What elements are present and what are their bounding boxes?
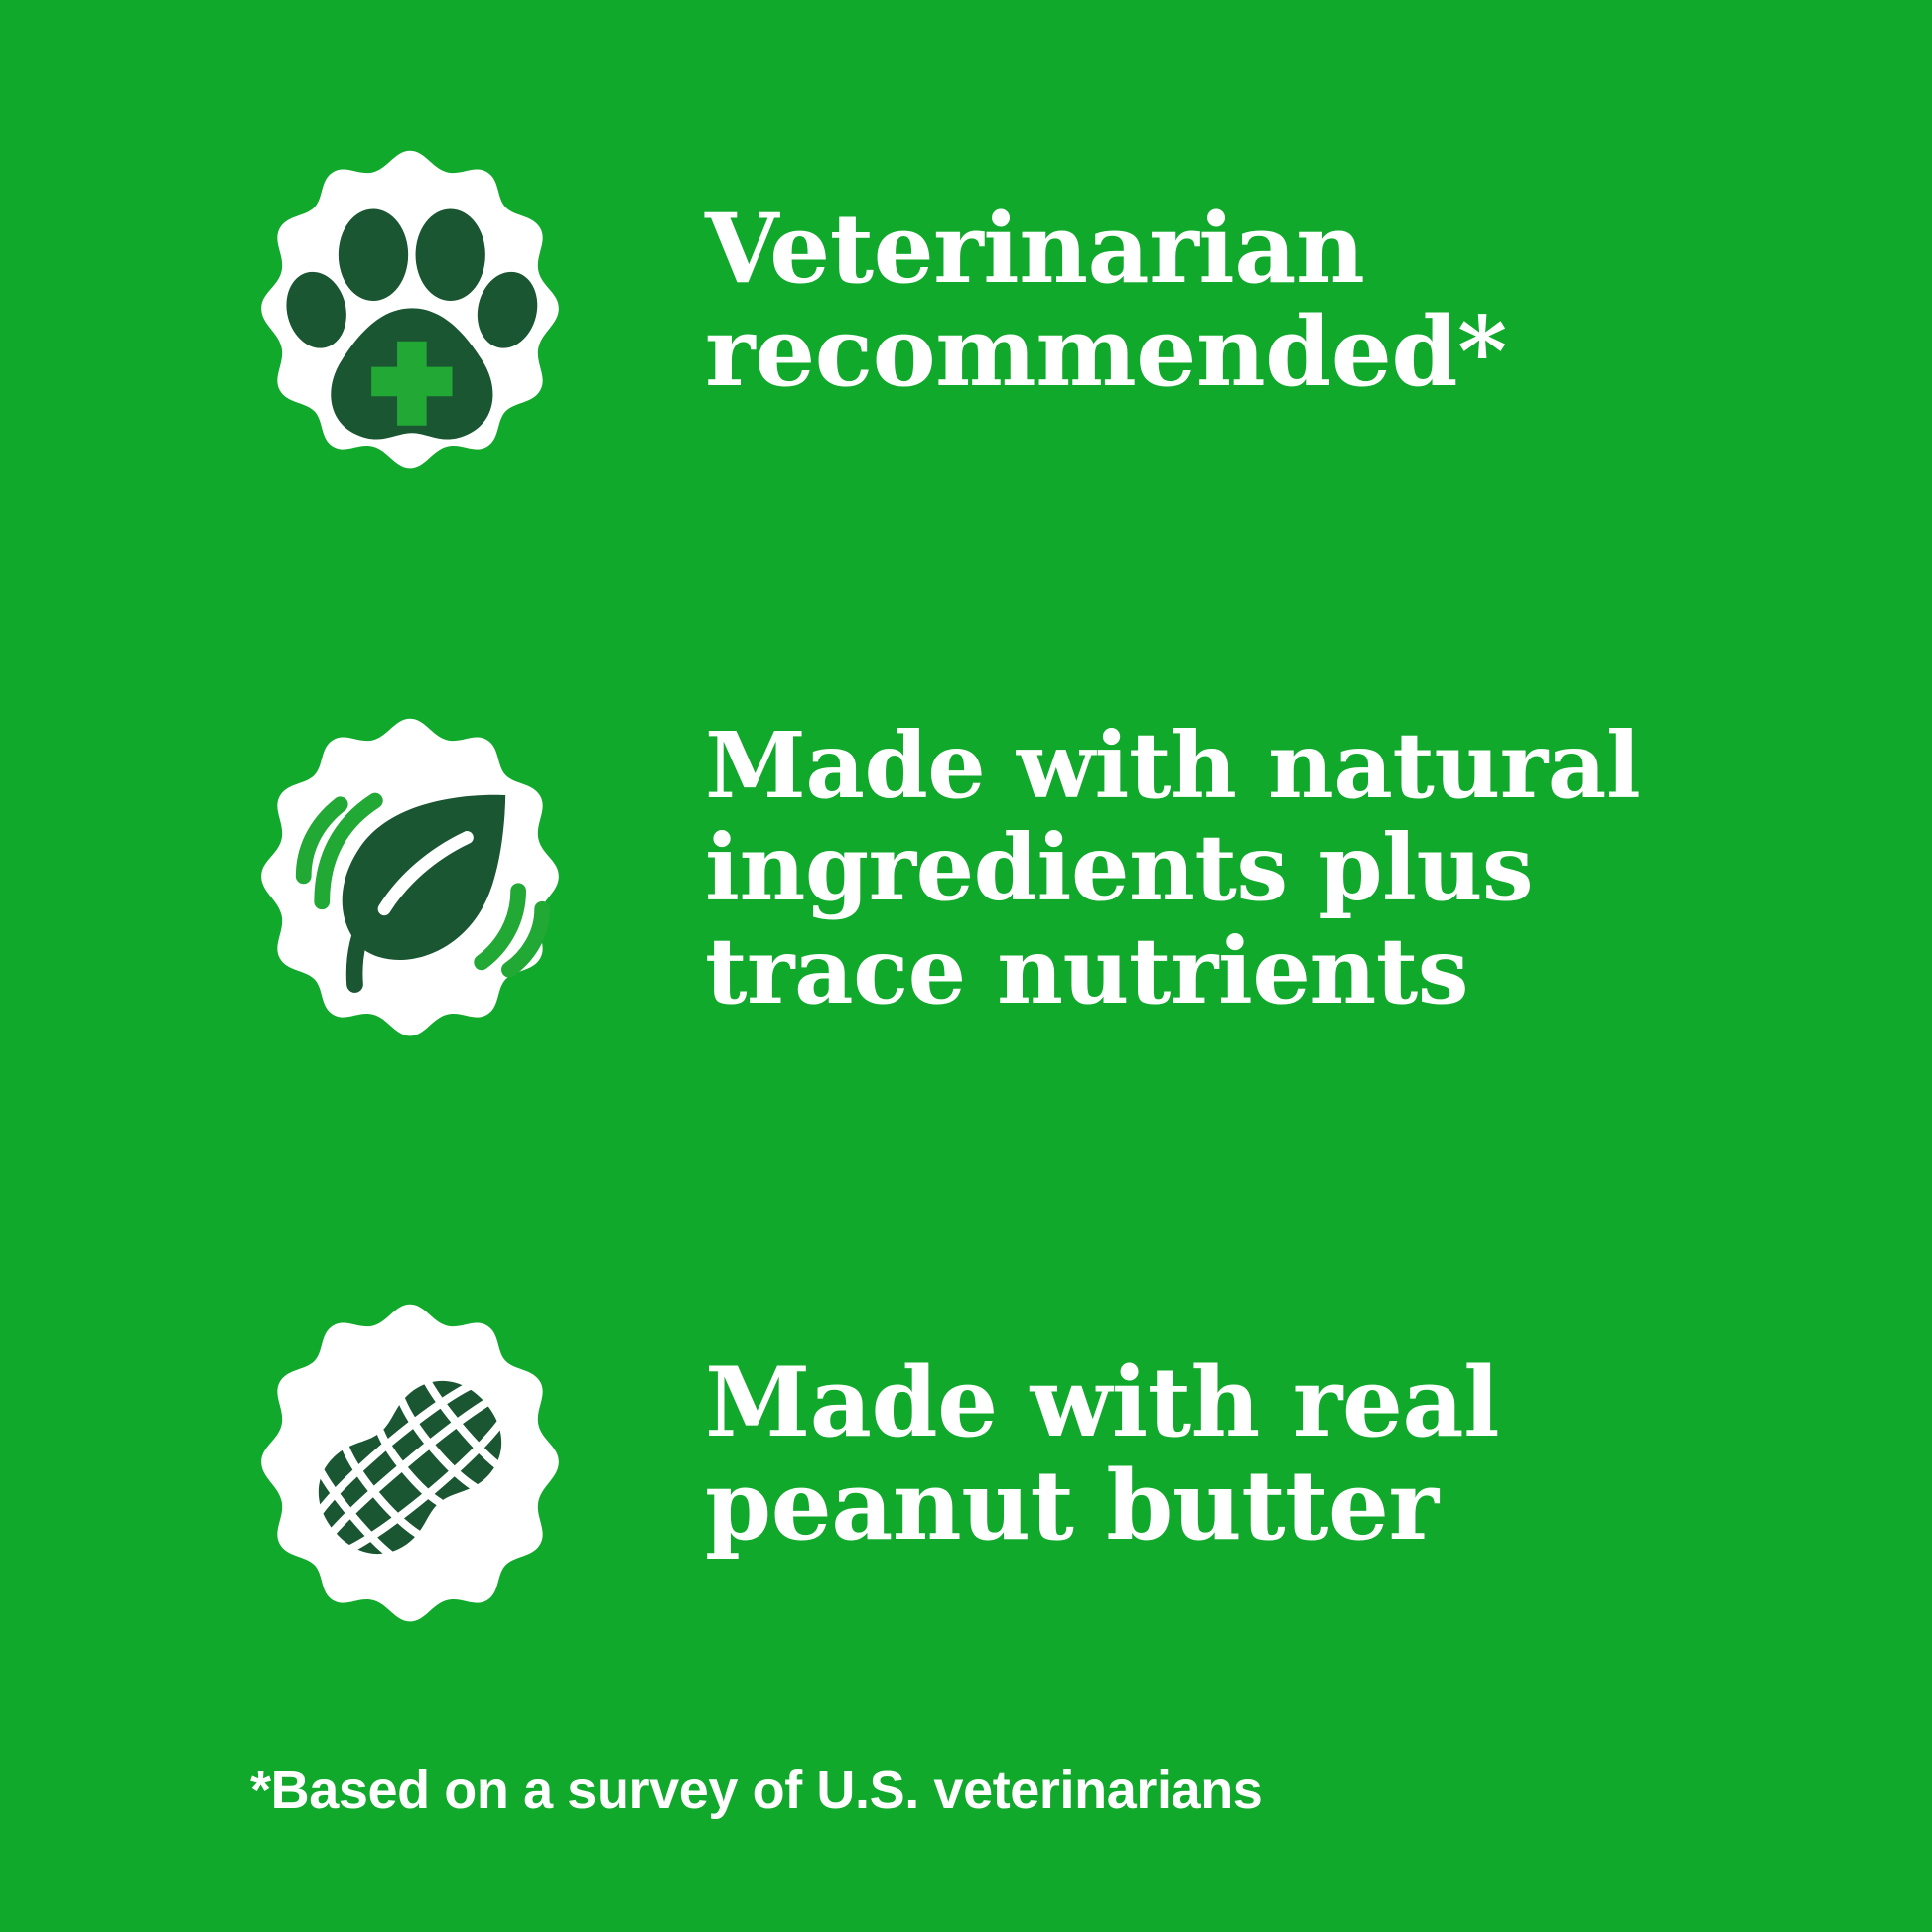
feature-item-veterinarian: Veterinarian recommended* bbox=[226, 117, 1835, 484]
paw-with-cross-icon bbox=[226, 117, 594, 484]
feature-panel: Veterinarian recommended* bbox=[0, 0, 1932, 1932]
feature-item-peanut-butter: Made with real peanut butter bbox=[226, 1271, 1835, 1638]
peanut-icon bbox=[226, 1271, 594, 1638]
feature-label-peanut-butter: Made with real peanut butter bbox=[705, 1351, 1499, 1557]
footnote-disclaimer: *Based on a survey of U.S. veterinarians bbox=[250, 1759, 1262, 1821]
feature-item-natural-ingredients: Made with natural ingredients plus trace… bbox=[226, 685, 1835, 1052]
feature-label-natural-ingredients: Made with natural ingredients plus trace… bbox=[705, 715, 1640, 1022]
feature-list: Veterinarian recommended* bbox=[0, 0, 1932, 1777]
feature-label-veterinarian: Veterinarian recommended* bbox=[705, 198, 1507, 403]
leaf-icon bbox=[226, 685, 594, 1052]
